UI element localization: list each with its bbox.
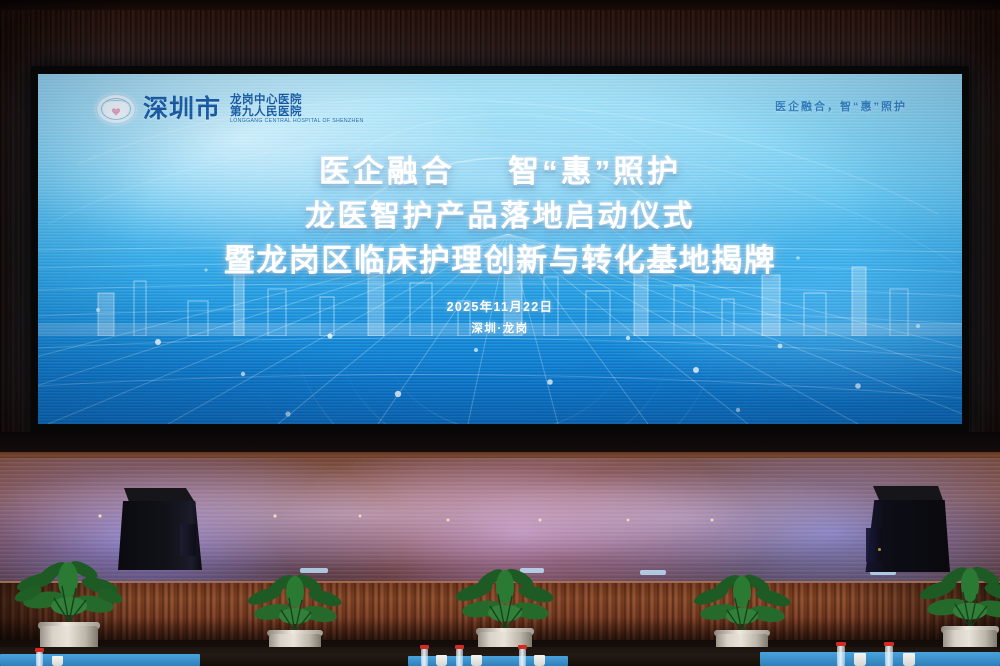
paper-cup — [534, 655, 545, 666]
paper-cup — [471, 655, 482, 666]
paper-cup — [52, 656, 63, 666]
plant-leaves — [245, 572, 345, 638]
water-bottle — [836, 642, 846, 666]
table-cloth-left — [0, 654, 200, 666]
led-screen: 深圳市 龙岗中心医院 第九人民医院 LONGGANG CENTRAL HOSPI… — [38, 74, 962, 424]
plant-leaves — [918, 566, 1000, 634]
paper-cup — [436, 655, 447, 666]
paper-cup — [854, 653, 866, 666]
plant-leaves — [452, 568, 558, 636]
water-bottle — [518, 645, 527, 666]
screen-vignette — [38, 74, 962, 424]
water-bottle — [455, 645, 464, 666]
plant-leaves — [14, 560, 124, 630]
water-bottle — [420, 645, 429, 666]
plant-leaves — [690, 572, 794, 638]
conference-hall-scene: 深圳市 龙岗中心医院 第九人民医院 LONGGANG CENTRAL HOSPI… — [0, 0, 1000, 666]
water-bottle — [884, 642, 894, 666]
stage-monitor-right — [862, 486, 950, 572]
led-screen-bezel: 深圳市 龙岗中心医院 第九人民医院 LONGGANG CENTRAL HOSPI… — [31, 66, 969, 432]
table-cloth-right — [760, 652, 1000, 666]
stage-monitor-left — [118, 488, 202, 570]
water-bottle — [35, 648, 44, 666]
potted-plant-1 — [14, 560, 124, 660]
paper-cup — [903, 653, 915, 666]
